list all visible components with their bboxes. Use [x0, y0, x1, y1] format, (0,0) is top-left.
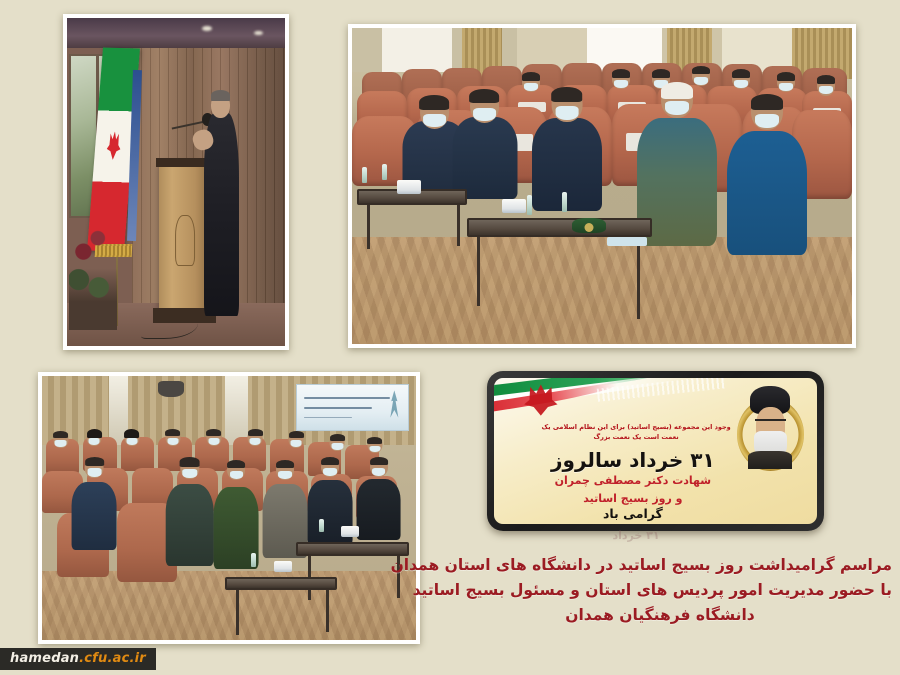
table-leg: [477, 237, 480, 307]
wall-banner-line3: [304, 417, 352, 418]
leader-portrait: [735, 384, 806, 475]
attendee-head: [207, 429, 222, 446]
commemoration-poster[interactable]: وجود این مجموعه (بسیج اساتید) برای این ن…: [487, 371, 824, 531]
face-mask-icon: [278, 471, 292, 479]
flower-vase: [69, 218, 117, 330]
water-bottle: [319, 519, 324, 532]
table-leg: [236, 590, 239, 635]
attendee-hair: [470, 89, 500, 103]
watermark-primary: hamedan: [10, 651, 79, 666]
attendee-hair: [248, 429, 263, 436]
face-mask-icon: [372, 468, 386, 476]
tissue-box: [274, 561, 292, 572]
attendee-torso: [72, 482, 117, 550]
water-bottle: [527, 195, 532, 215]
seat-card: [607, 237, 647, 246]
podium-ceiling: [67, 18, 285, 48]
attendee-hair: [777, 72, 795, 80]
face-mask-icon: [208, 438, 219, 445]
podium-lectern: [159, 162, 211, 310]
attendee-hair: [85, 457, 104, 466]
attendee-hair: [367, 437, 382, 444]
face-mask-icon: [555, 106, 578, 120]
attendee: [732, 69, 750, 91]
face-mask-icon: [734, 80, 748, 88]
water-bottle: [251, 553, 256, 567]
face-mask-icon: [87, 468, 101, 476]
attendee: [289, 431, 304, 452]
attendee-head: [85, 457, 104, 478]
attendee: [612, 69, 630, 91]
attendee-hair: [330, 434, 345, 441]
attendee-head: [124, 429, 139, 446]
face-mask-icon: [755, 114, 779, 128]
attendee-head: [330, 434, 345, 451]
table-leg: [457, 205, 460, 246]
attendee-hair: [228, 460, 246, 468]
attendee-hair: [522, 72, 540, 80]
attendee-torso: [452, 117, 517, 199]
face-mask-icon: [167, 438, 178, 445]
face-mask-icon: [249, 438, 260, 445]
attendee-hair: [321, 457, 339, 465]
face-mask-icon: [423, 114, 446, 127]
poster-line-2: شهادت دکتر مصطفی چمران: [526, 474, 739, 487]
tissue-box: [502, 199, 526, 213]
wall-banner-line1: [304, 397, 390, 399]
attendee-head: [180, 457, 199, 479]
cleric-turban-icon: [661, 82, 693, 99]
site-watermark: hamedan.cfu.ac.ir: [0, 648, 156, 670]
glasses-icon: [755, 419, 786, 425]
attendee-head: [165, 429, 180, 446]
hall2-window: [225, 376, 247, 445]
table-leg: [637, 237, 640, 319]
attendee-torso: [727, 131, 807, 256]
photo-audience-main-hall[interactable]: [348, 24, 856, 348]
photo-speaker-at-podium[interactable]: [63, 14, 289, 350]
face-mask-icon: [323, 468, 337, 476]
poster-date-line: ۳۱ خرداد سالروز: [526, 450, 739, 470]
wall-banner-line2: [304, 407, 372, 409]
attendee-front: [452, 85, 517, 199]
lectern-crest: [175, 215, 195, 265]
attendee: [53, 431, 68, 452]
attendee-head: [367, 437, 382, 454]
military-cap-icon: [572, 218, 606, 233]
attendee-hair: [692, 66, 710, 74]
attendee: [165, 429, 180, 450]
attendee: [248, 429, 263, 450]
attendee-hair: [751, 94, 783, 109]
attendee-front: [356, 455, 401, 539]
face-mask-icon: [779, 83, 793, 91]
attendee-head: [420, 95, 450, 128]
attendee-head: [552, 87, 583, 121]
attendee: [817, 75, 835, 97]
attendee-head: [87, 429, 102, 446]
face-mask-icon: [665, 101, 689, 115]
photo-speaker-at-podium-content: [67, 18, 285, 346]
attendee-front: [72, 455, 117, 550]
attendee-head: [228, 460, 246, 480]
attendee-head: [777, 72, 795, 92]
attendee-hair: [420, 95, 450, 109]
attendee-hair: [552, 87, 583, 101]
attendee-head: [817, 75, 835, 95]
wall-banner: [296, 384, 408, 432]
ghost-artifact-text: ۳۱ خرداد: [556, 529, 716, 542]
watermark-secondary: .cfu.ac.ir: [79, 651, 146, 666]
speaker-hair: [211, 90, 231, 100]
attendee-hair: [180, 457, 199, 466]
coffee-table: [225, 577, 337, 590]
photo-audience-lower-hall[interactable]: [38, 372, 420, 644]
robe: [748, 451, 792, 469]
poster-line-4: گرامی باد: [526, 506, 739, 521]
attendee-torso: [356, 479, 401, 540]
attendee: [207, 429, 222, 450]
attendee-hair: [207, 429, 222, 436]
caption-line-3: دانشگاه فرهنگیان همدان: [428, 603, 892, 628]
poster-line-3: و روز بسیج اساتید: [526, 492, 739, 505]
attendee-hair: [732, 69, 750, 77]
attendee-hair: [165, 429, 180, 436]
cleric-head: [661, 82, 693, 118]
attendee-front: [165, 455, 214, 566]
attendee-torso: [532, 118, 602, 212]
attendee-hair: [124, 429, 139, 438]
face-mask-icon: [614, 80, 628, 88]
caption-line-2: با حضور مدیریت امور پردیس های استان و مس…: [428, 578, 892, 603]
attendee: [124, 429, 139, 450]
table-leg: [367, 205, 370, 249]
attendee-head: [53, 431, 68, 448]
face-mask-icon: [89, 438, 100, 445]
attendee-hair: [612, 69, 630, 77]
attendee-head: [276, 460, 294, 480]
tissue-box: [397, 180, 421, 194]
poster-content: وجود این مجموعه (بسیج اساتید) برای این ن…: [494, 378, 817, 524]
water-bottle: [562, 192, 567, 212]
photo-audience-main-hall-content: [352, 28, 852, 344]
face-mask-icon: [473, 108, 496, 121]
face-mask-icon: [55, 440, 66, 447]
attendee-head: [751, 94, 783, 130]
wall-banner-logo-icon: [387, 390, 402, 417]
attendee-hair: [370, 457, 388, 465]
attendee-head: [289, 431, 304, 448]
photo-audience-lower-hall-content: [42, 376, 416, 640]
attendee-hair: [53, 431, 68, 438]
table-leg: [326, 590, 329, 632]
attendee-hair: [276, 460, 294, 468]
attendee-hair: [817, 75, 835, 83]
face-mask-icon: [332, 443, 343, 450]
iran-emblem-icon: [106, 131, 123, 160]
face-mask-icon: [291, 440, 302, 447]
coffee-table: [467, 218, 652, 237]
attendee-front: [727, 91, 807, 255]
attendee-hair: [87, 429, 102, 438]
caption-block: مراسم گرامیداشت روز بسیج اساتید در دانشگ…: [428, 553, 892, 628]
attendee-front: [532, 85, 602, 211]
attendee-head: [321, 457, 339, 477]
face-mask-icon: [369, 446, 380, 453]
tissue-box: [341, 526, 359, 537]
attendee-head: [732, 69, 750, 89]
attendee: [87, 429, 102, 450]
face-mask-icon: [126, 438, 137, 445]
attendee-hair: [652, 69, 670, 77]
water-bottle: [362, 167, 367, 183]
face-mask-icon: [182, 469, 197, 478]
face-mask-icon: [819, 86, 833, 94]
attendee-head: [612, 69, 630, 89]
attendee-head: [248, 429, 263, 446]
leader-portrait-figure: [747, 386, 792, 469]
water-bottle: [382, 164, 387, 180]
face-mask-icon: [230, 471, 244, 479]
caption-line-1: مراسم گرامیداشت روز بسیج اساتید در دانشگ…: [428, 553, 892, 578]
wall-speaker-icon: [158, 381, 184, 397]
attendee-head: [370, 457, 388, 477]
poster-quote: وجود این مجموعه (بسیج اساتید) برای این ن…: [536, 422, 736, 442]
attendee-torso: [165, 484, 214, 566]
attendee-head: [470, 89, 500, 122]
attendee-hair: [289, 431, 304, 438]
attendee: [330, 434, 345, 455]
